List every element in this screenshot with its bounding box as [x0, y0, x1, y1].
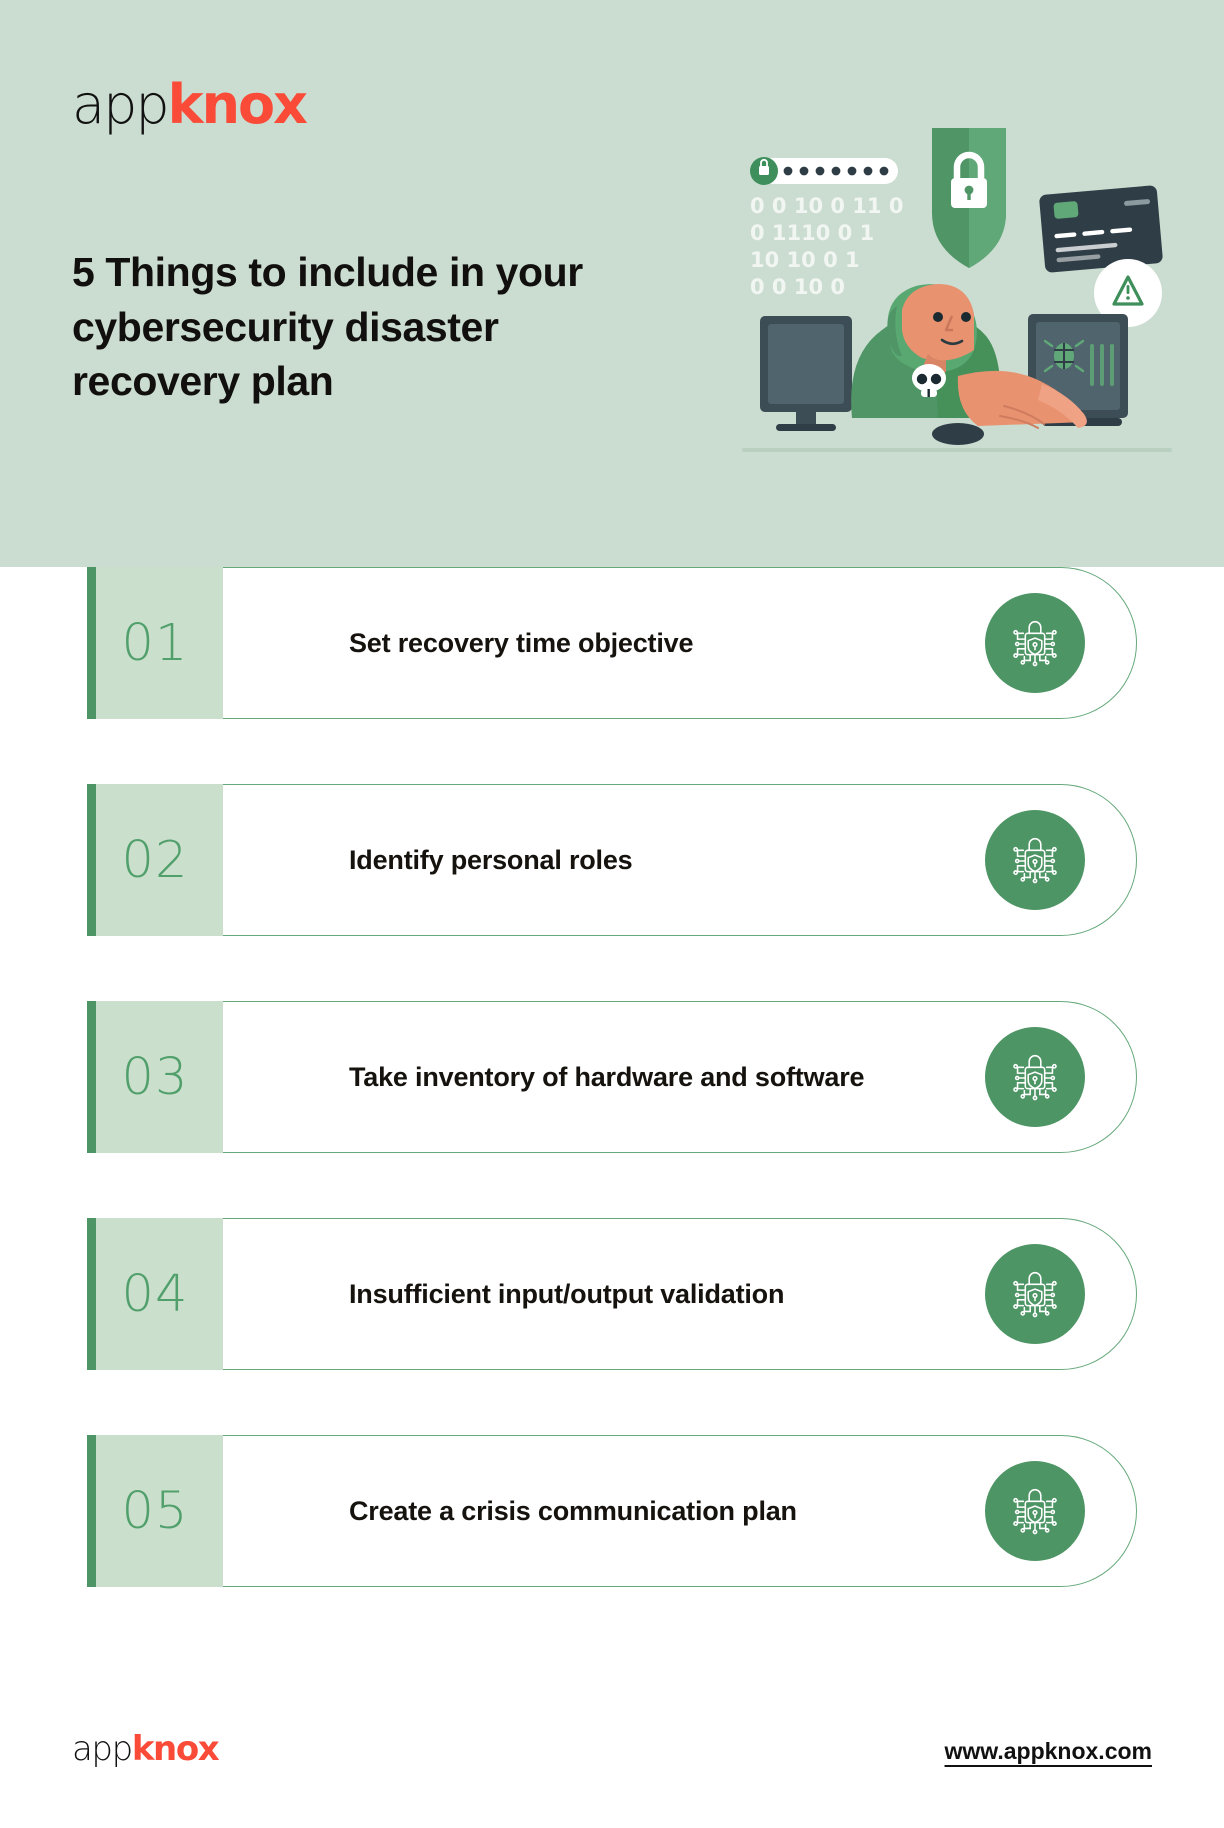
footer-logo-knox-text: knox	[132, 1729, 219, 1769]
svg-text:10 10 0 1: 10 10 0 1	[750, 248, 860, 272]
page-title: 5 Things to include in your cybersecurit…	[72, 245, 632, 409]
list-item-number-box: 02	[87, 784, 223, 936]
footer: appknox www.appknox.com	[0, 1688, 1224, 1828]
password-bar-icon	[750, 157, 898, 185]
shield-padlock-icon	[932, 128, 1006, 268]
list-item-label: Take inventory of hardware and software	[349, 1001, 947, 1153]
credit-card-icon	[1039, 185, 1163, 273]
list-item-label: Create a crisis communication plan	[349, 1435, 947, 1587]
list-item-number-box: 04	[87, 1218, 223, 1370]
header-band: appknox 5 Things to include in your cybe…	[0, 0, 1224, 567]
logo-app-text: app	[72, 73, 168, 136]
footer-appknox-logo: appknox	[72, 1732, 218, 1766]
list-item-number: 04	[122, 1265, 189, 1324]
list-item-number-box: 01	[87, 567, 223, 719]
checklist: 01 Set recovery time objective	[0, 567, 1224, 1587]
list-item[interactable]: 04 Insufficient input/output validation	[87, 1218, 1137, 1370]
svg-text:0 0 10 0: 0 0 10 0	[750, 275, 845, 299]
list-item-number-box: 05	[87, 1435, 223, 1587]
list-item[interactable]: 02 Identify personal roles	[87, 784, 1137, 936]
list-item-label: Set recovery time objective	[349, 567, 947, 719]
list-item-number-box: 03	[87, 1001, 223, 1153]
list-item-label: Identify personal roles	[349, 784, 947, 936]
list-item-number: 05	[122, 1482, 189, 1541]
list-item-accent-bar	[87, 784, 96, 936]
logo-knox-text: knox	[168, 73, 306, 136]
circuit-padlock-shield-icon	[985, 1027, 1085, 1127]
circuit-padlock-shield-icon	[985, 1461, 1085, 1561]
infographic-page: appknox 5 Things to include in your cybe…	[0, 0, 1224, 1828]
list-item-number: 01	[122, 614, 189, 673]
list-item-accent-bar	[87, 1001, 96, 1153]
list-item[interactable]: 05 Create a crisis communication plan	[87, 1435, 1137, 1587]
svg-text:0 1110 0 1: 0 1110 0 1	[750, 221, 874, 245]
list-item-accent-bar	[87, 567, 96, 719]
list-item-number: 02	[122, 831, 189, 890]
footer-logo-app-text: app	[72, 1729, 132, 1769]
list-item[interactable]: 03 Take inventory of hardware and softwa…	[87, 1001, 1137, 1153]
monitor-icon	[760, 316, 852, 431]
list-item[interactable]: 01 Set recovery time objective	[87, 567, 1137, 719]
list-item-accent-bar	[87, 1218, 96, 1370]
list-item-label: Insufficient input/output validation	[349, 1218, 947, 1370]
circuit-padlock-shield-icon	[985, 810, 1085, 910]
list-item-number: 03	[122, 1048, 189, 1107]
circuit-padlock-shield-icon	[985, 593, 1085, 693]
circuit-padlock-shield-icon	[985, 1244, 1085, 1344]
svg-text:0 0 10 0 11 0: 0 0 10 0 11 0	[750, 194, 903, 218]
appknox-logo: appknox	[72, 78, 306, 132]
hacker-cybersecurity-illustration: 0 0 10 0 11 0 0 1110 0 1 10 10 0 1 0 0 1…	[742, 118, 1172, 468]
list-item-accent-bar	[87, 1435, 96, 1587]
website-link[interactable]: www.appknox.com	[945, 1738, 1152, 1765]
